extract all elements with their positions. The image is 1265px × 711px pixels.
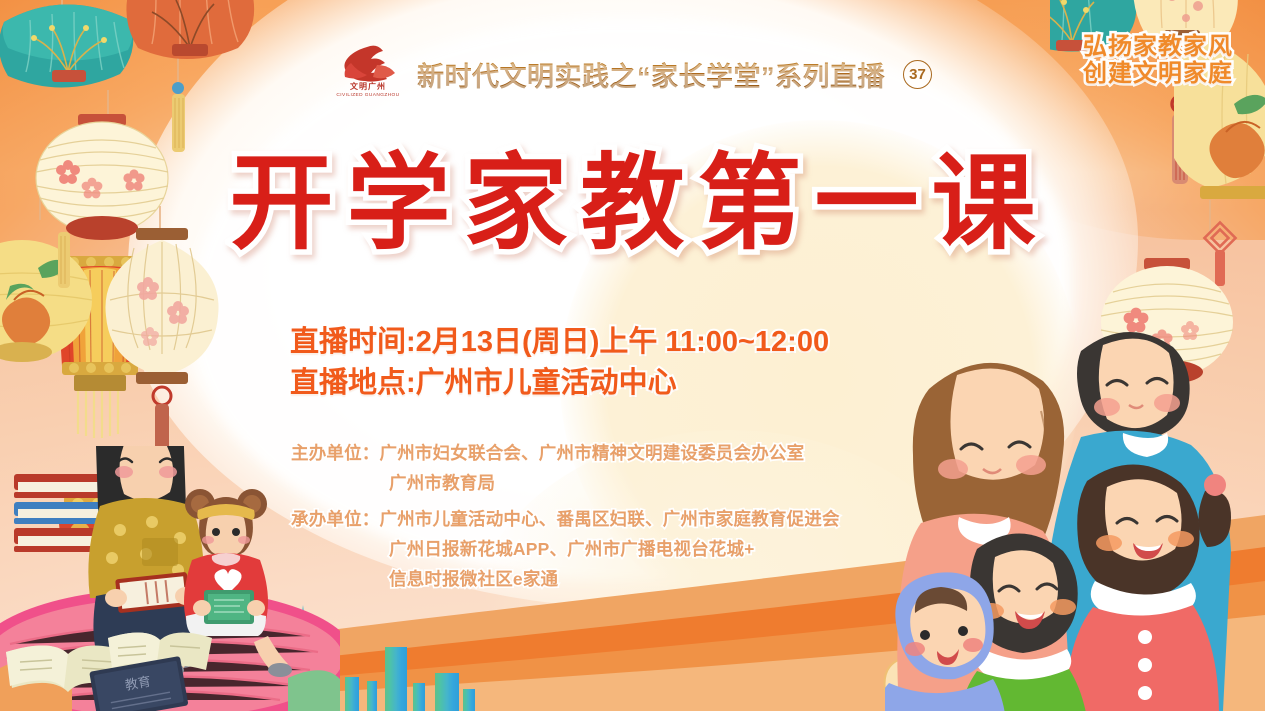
slogan-line-2: 创建文明家庭 — [1083, 61, 1233, 88]
coorganizer-line-3: 信息时报微社区e家通 — [291, 564, 840, 594]
page-title: 开学家教第一课 — [0, 152, 1265, 256]
broadcast-info-block: 直播时间:2月13日(周日)上午 11:00~12:00 直播地点:广州市儿童活… — [290, 322, 829, 404]
series-title: 新时代文明实践之“家长学堂”系列直播 — [417, 55, 885, 94]
episode-number-badge: 37 — [903, 60, 932, 89]
broadcast-time-line: 直播时间:2月13日(周日)上午 11:00~12:00 — [290, 322, 829, 363]
coorganizer-line-1: 承办单位：广州市儿童活动中心、番禺区妇联、广州市家庭教育促进会 — [291, 504, 840, 534]
broadcast-place-line: 直播地点:广州市儿童活动中心 — [290, 363, 829, 404]
logo-cn-text: 文明广州 — [333, 83, 403, 91]
coorganizer-line-2: 广州日报新花城APP、广州市广播电视台花城+ — [291, 534, 840, 564]
logo-en-text: CIVILIZED GUANGZHOU — [332, 93, 405, 98]
civilized-guangzhou-logo: 文明广州 CIVILIZED GUANGZHOU — [333, 45, 403, 103]
slogan-block: 弘扬家教家风 创建文明家庭 — [1083, 34, 1233, 88]
organizers-block: 主办单位：广州市妇女联合会、广州市精神文明建设委员会办公室 广州市教育局 承办单… — [291, 438, 840, 594]
logo-mark-icon — [337, 45, 399, 83]
header-bar: 文明广州 CIVILIZED GUANGZHOU 新时代文明实践之“家长学堂”系… — [0, 44, 1265, 104]
slogan-line-1: 弘扬家教家风 — [1083, 34, 1233, 61]
host-line-2: 广州市教育局 — [291, 468, 840, 498]
host-line-1: 主办单位：广州市妇女联合会、广州市精神文明建设委员会办公室 — [291, 438, 840, 468]
poster-canvas: 教育 — [0, 0, 1265, 711]
